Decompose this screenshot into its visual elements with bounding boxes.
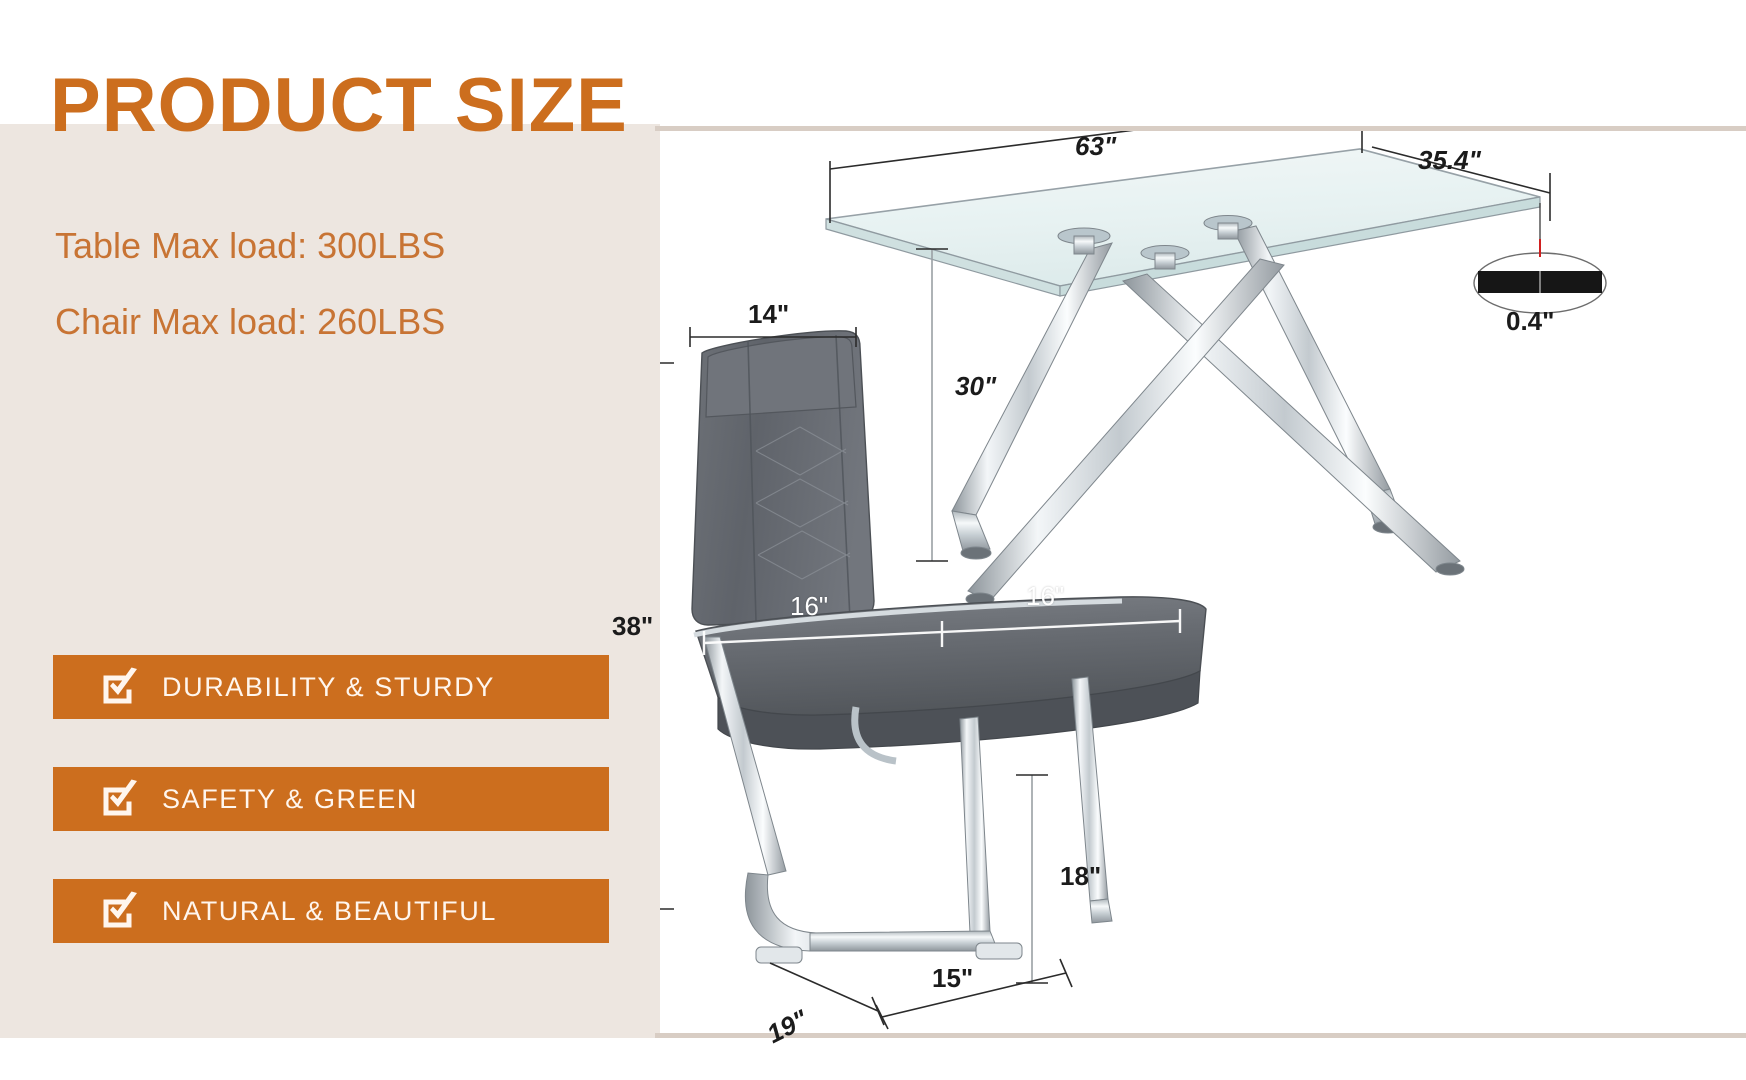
dim-label-table-width: 63" (1075, 131, 1116, 162)
dim-label-chair-height: 38" (612, 611, 653, 642)
feature-label: DURABILITY & STURDY (162, 672, 495, 703)
page-title: PRODUCT SIZE (50, 68, 628, 144)
right-panel-bottom-border (655, 1033, 1746, 1038)
feature-bar-natural: NATURAL & BEAUTIFUL (53, 879, 609, 943)
table-max-load-text: Table Max load: 300LBS (55, 225, 445, 267)
feature-bar-safety: SAFETY & GREEN (53, 767, 609, 831)
chair-max-load-text: Chair Max load: 260LBS (55, 301, 445, 343)
feature-label: NATURAL & BEAUTIFUL (162, 896, 497, 927)
checkbox-checked-icon (100, 779, 140, 819)
dim-label-seat-width: 16" (1026, 581, 1064, 612)
feature-label: SAFETY & GREEN (162, 784, 418, 815)
product-size-infographic: PRODUCT SIZE Table Max load: 300LBS Chai… (0, 0, 1746, 1080)
dim-label-seat-depth: 16" (790, 591, 828, 622)
dim-label-base-width: 15" (932, 963, 973, 994)
dim-label-glass-thickness: 0.4" (1506, 306, 1554, 337)
checkbox-checked-icon (100, 891, 140, 931)
dim-label-chair-back-width: 14" (748, 299, 789, 330)
dim-label-table-height: 30" (955, 371, 996, 402)
checkbox-checked-icon (100, 667, 140, 707)
feature-bar-durability: DURABILITY & STURDY (53, 655, 609, 719)
product-illustration: 63" 35.4" 30" 0.4" 14" 38" 16" 16" 18" 1… (660, 131, 1746, 1033)
dim-label-seat-height: 18" (1060, 861, 1101, 892)
dim-label-table-depth: 35.4" (1418, 145, 1481, 176)
